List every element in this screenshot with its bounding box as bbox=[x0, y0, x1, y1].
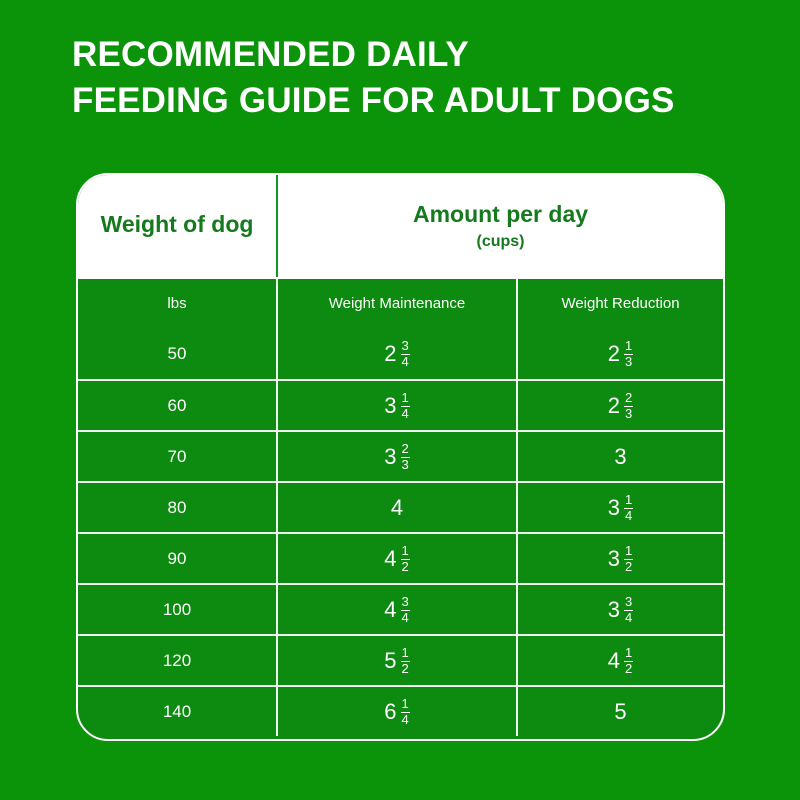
whole-number: 2 bbox=[384, 343, 396, 365]
header-amount-unit-label: (cups) bbox=[477, 233, 525, 251]
table-subheader-row: lbs Weight Maintenance Weight Reduction bbox=[78, 277, 723, 328]
fraction-numerator: 1 bbox=[401, 697, 410, 711]
mixed-number: 314 bbox=[384, 391, 409, 420]
whole-number: 3 bbox=[608, 497, 620, 519]
fraction: 23 bbox=[624, 391, 633, 420]
whole-number: 4 bbox=[384, 599, 396, 621]
fraction: 14 bbox=[624, 493, 633, 522]
cell-weight-maintenance: 323 bbox=[278, 432, 518, 481]
mixed-number: 213 bbox=[608, 339, 633, 368]
cell-weight-maintenance: 4 bbox=[278, 483, 518, 532]
cell-weight-lbs: 50 bbox=[78, 328, 278, 379]
fraction-numerator: 3 bbox=[624, 595, 633, 609]
fraction: 12 bbox=[624, 646, 633, 675]
subheader-cell-lbs: lbs bbox=[78, 279, 278, 328]
mixed-number: 312 bbox=[608, 544, 633, 573]
fraction-denominator: 4 bbox=[401, 712, 410, 727]
fraction-numerator: 2 bbox=[401, 442, 410, 456]
whole-number: 4 bbox=[384, 548, 396, 570]
mixed-number: 412 bbox=[384, 544, 409, 573]
mixed-number: 614 bbox=[384, 697, 409, 726]
table-row: 50234213 bbox=[78, 328, 723, 379]
header-cell-weight-of-dog: Weight of dog bbox=[78, 175, 278, 277]
header-cell-amount-per-day: Amount per day (cups) bbox=[278, 175, 723, 277]
table-body: 5023421360314223703233804314904123121004… bbox=[78, 328, 723, 736]
fraction-numerator: 1 bbox=[624, 646, 633, 660]
whole-number: 2 bbox=[608, 343, 620, 365]
table-row: 100434334 bbox=[78, 583, 723, 634]
fraction-numerator: 3 bbox=[401, 339, 410, 353]
fraction-denominator: 2 bbox=[401, 661, 410, 676]
fraction-numerator: 1 bbox=[624, 339, 633, 353]
fraction-denominator: 2 bbox=[401, 559, 410, 574]
cell-weight-reduction: 5 bbox=[518, 687, 723, 736]
cell-weight-reduction: 412 bbox=[518, 636, 723, 685]
cell-weight-lbs: 100 bbox=[78, 585, 278, 634]
cell-weight-maintenance: 314 bbox=[278, 381, 518, 430]
whole-number: 3 bbox=[384, 395, 396, 417]
fraction-numerator: 1 bbox=[624, 493, 633, 507]
fraction: 12 bbox=[401, 544, 410, 573]
cell-weight-lbs: 80 bbox=[78, 483, 278, 532]
whole-number: 5 bbox=[614, 699, 626, 725]
fraction-numerator: 2 bbox=[624, 391, 633, 405]
fraction-denominator: 3 bbox=[624, 406, 633, 421]
table-row: 120512412 bbox=[78, 634, 723, 685]
whole-number: 3 bbox=[608, 599, 620, 621]
table-header-main: Weight of dog Amount per day (cups) bbox=[78, 175, 723, 277]
page-title-line-2: FEEDING GUIDE FOR ADULT DOGS bbox=[72, 78, 772, 124]
cell-weight-lbs: 90 bbox=[78, 534, 278, 583]
cell-weight-maintenance: 434 bbox=[278, 585, 518, 634]
fraction-denominator: 3 bbox=[624, 354, 633, 369]
cell-weight-reduction: 334 bbox=[518, 585, 723, 634]
cell-weight-reduction: 314 bbox=[518, 483, 723, 532]
fraction-numerator: 3 bbox=[401, 595, 410, 609]
whole-number: 4 bbox=[391, 495, 403, 521]
table-row: 60314223 bbox=[78, 379, 723, 430]
cell-weight-lbs: 60 bbox=[78, 381, 278, 430]
header-weight-of-dog-label: Weight of dog bbox=[101, 211, 254, 238]
fraction-denominator: 3 bbox=[401, 457, 410, 472]
fraction-numerator: 1 bbox=[401, 391, 410, 405]
whole-number: 3 bbox=[384, 446, 396, 468]
mixed-number: 234 bbox=[384, 339, 409, 368]
mixed-number: 223 bbox=[608, 391, 633, 420]
whole-number: 3 bbox=[608, 548, 620, 570]
fraction-denominator: 4 bbox=[624, 610, 633, 625]
page-title-line-1: RECOMMENDED DAILY bbox=[72, 32, 772, 78]
fraction: 23 bbox=[401, 442, 410, 471]
page-title: RECOMMENDED DAILY FEEDING GUIDE FOR ADUL… bbox=[72, 32, 772, 124]
header-amount-per-day-label: Amount per day bbox=[413, 201, 588, 228]
cell-weight-lbs: 120 bbox=[78, 636, 278, 685]
whole-number: 4 bbox=[608, 650, 620, 672]
fraction-denominator: 4 bbox=[401, 406, 410, 421]
feeding-guide-table: Weight of dog Amount per day (cups) lbs … bbox=[76, 173, 725, 741]
cell-weight-maintenance: 412 bbox=[278, 534, 518, 583]
mixed-number: 334 bbox=[608, 595, 633, 624]
fraction: 34 bbox=[401, 339, 410, 368]
fraction: 12 bbox=[624, 544, 633, 573]
cell-weight-maintenance: 234 bbox=[278, 328, 518, 379]
fraction-denominator: 4 bbox=[401, 610, 410, 625]
mixed-number: 323 bbox=[384, 442, 409, 471]
table-row: 1406145 bbox=[78, 685, 723, 736]
fraction-denominator: 2 bbox=[624, 661, 633, 676]
cell-weight-maintenance: 512 bbox=[278, 636, 518, 685]
cell-weight-reduction: 3 bbox=[518, 432, 723, 481]
feeding-guide-page: RECOMMENDED DAILY FEEDING GUIDE FOR ADUL… bbox=[0, 0, 800, 800]
cell-weight-reduction: 213 bbox=[518, 328, 723, 379]
whole-number: 2 bbox=[608, 395, 620, 417]
mixed-number: 314 bbox=[608, 493, 633, 522]
fraction-numerator: 1 bbox=[401, 544, 410, 558]
mixed-number: 434 bbox=[384, 595, 409, 624]
table-row: 90412312 bbox=[78, 532, 723, 583]
mixed-number: 412 bbox=[608, 646, 633, 675]
cell-weight-maintenance: 614 bbox=[278, 687, 518, 736]
fraction-numerator: 1 bbox=[401, 646, 410, 660]
fraction-denominator: 2 bbox=[624, 559, 633, 574]
whole-number: 6 bbox=[384, 701, 396, 723]
cell-weight-lbs: 140 bbox=[78, 687, 278, 736]
table-row: 703233 bbox=[78, 430, 723, 481]
cell-weight-reduction: 223 bbox=[518, 381, 723, 430]
whole-number: 5 bbox=[384, 650, 396, 672]
fraction-numerator: 1 bbox=[624, 544, 633, 558]
subheader-cell-weight-maintenance: Weight Maintenance bbox=[278, 279, 518, 328]
fraction: 13 bbox=[624, 339, 633, 368]
cell-weight-reduction: 312 bbox=[518, 534, 723, 583]
fraction: 14 bbox=[401, 697, 410, 726]
table-row: 804314 bbox=[78, 481, 723, 532]
mixed-number: 512 bbox=[384, 646, 409, 675]
fraction-denominator: 4 bbox=[401, 354, 410, 369]
fraction: 34 bbox=[401, 595, 410, 624]
cell-weight-lbs: 70 bbox=[78, 432, 278, 481]
fraction-denominator: 4 bbox=[624, 508, 633, 523]
fraction: 14 bbox=[401, 391, 410, 420]
fraction: 12 bbox=[401, 646, 410, 675]
fraction: 34 bbox=[624, 595, 633, 624]
subheader-cell-weight-reduction: Weight Reduction bbox=[518, 279, 723, 328]
whole-number: 3 bbox=[614, 444, 626, 470]
